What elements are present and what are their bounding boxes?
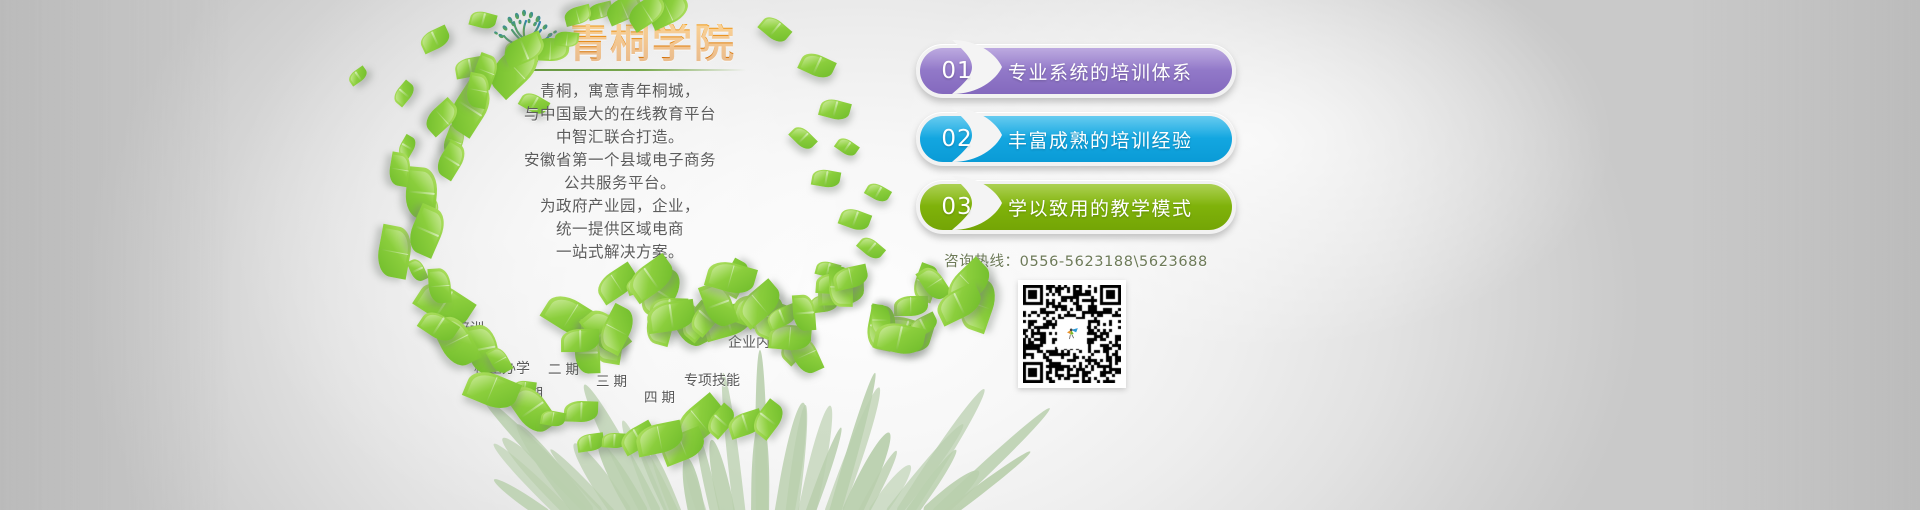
description-line: 与中国最大的在线教育平台: [470, 103, 770, 126]
feature-badge-02[interactable]: 02丰富成熟的培训经验: [916, 112, 1236, 166]
badge-label: 学以致用的教学模式: [994, 194, 1193, 221]
leaf-decoration: [406, 257, 428, 284]
leaf-decoration: [818, 96, 852, 122]
leaf-decoration: [758, 13, 793, 47]
description-line: 为政府产业园，企业，: [470, 195, 770, 218]
leaf-decoration: [346, 65, 369, 87]
description-line: 中智汇联合打造。: [470, 126, 770, 149]
leaf-decoration: [834, 135, 860, 159]
badge-number: 03: [920, 194, 994, 220]
badge-number: 02: [920, 126, 994, 152]
leaf-decoration: [797, 49, 837, 82]
leaf-decoration: [838, 205, 873, 233]
brand-description: 青桐，寓意青年桐城，与中国最大的在线教育平台中智汇联合打造。安徽省第一个县域电子…: [470, 80, 770, 264]
leaf-decoration: [788, 123, 818, 153]
description-line: 公共服务平台。: [470, 172, 770, 195]
badge-label: 丰富成熟的培训经验: [994, 126, 1193, 153]
tree-label-4: 三期: [596, 370, 631, 390]
badge-label: 专业系统的培训体系: [994, 58, 1193, 85]
brand-mark-icon: [1059, 321, 1085, 347]
tree-label-5: 四期: [644, 386, 679, 406]
leaf-decoration: [417, 25, 452, 55]
tree-label-6: 专项技能: [684, 370, 740, 390]
feature-badge-01[interactable]: 01专业系统的培训体系: [916, 44, 1236, 98]
leaf-decoration: [864, 180, 892, 205]
leaf-decoration: [564, 400, 599, 422]
promo-banner: 青桐学院 青桐，寓意青年桐城，与中国最大的在线教育平台中智汇联合打造。安徽省第一…: [0, 0, 1920, 510]
feature-badge-03[interactable]: 03学以致用的教学模式: [916, 180, 1236, 234]
description-line: 一站式解决方案。: [470, 241, 770, 264]
leaf-decoration: [811, 168, 842, 190]
description-line: 安徽省第一个县域电子商务: [470, 149, 770, 172]
feature-badge-list: 01专业系统的培训体系02丰富成熟的培训经验03学以致用的教学模式: [916, 44, 1236, 248]
brand-title: 青桐学院: [568, 24, 736, 66]
qr-code-icon[interactable]: [1018, 280, 1126, 388]
leaf-decoration: [374, 224, 415, 280]
leaf-decoration: [856, 234, 886, 263]
description-line: 统一提供区域电商: [470, 218, 770, 241]
leaf-decoration: [391, 79, 418, 107]
badge-number: 01: [920, 58, 994, 84]
leaf-decoration: [432, 139, 470, 181]
leaf-decoration: [894, 295, 928, 316]
